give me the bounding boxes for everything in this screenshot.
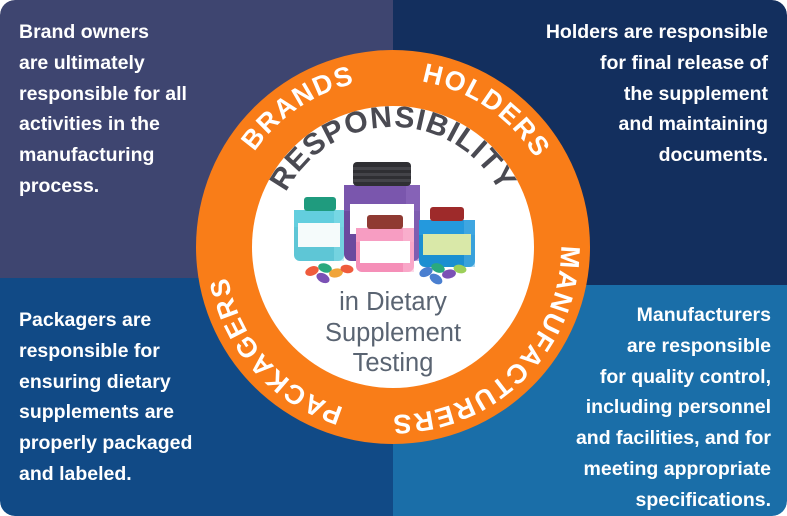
bottle-blue	[419, 207, 475, 267]
central-responsibility-wheel: BRANDS HOLDERS MANUFACTURERS PACKAGERS R…	[196, 50, 590, 444]
bottle-teal	[294, 197, 344, 261]
center-caption: in Dietary Supplement Testing	[216, 287, 570, 379]
infographic-canvas: Brand owners are ultimately responsible …	[0, 0, 787, 516]
pills-left	[304, 262, 354, 286]
supplement-bottles-illustration	[268, 158, 508, 288]
